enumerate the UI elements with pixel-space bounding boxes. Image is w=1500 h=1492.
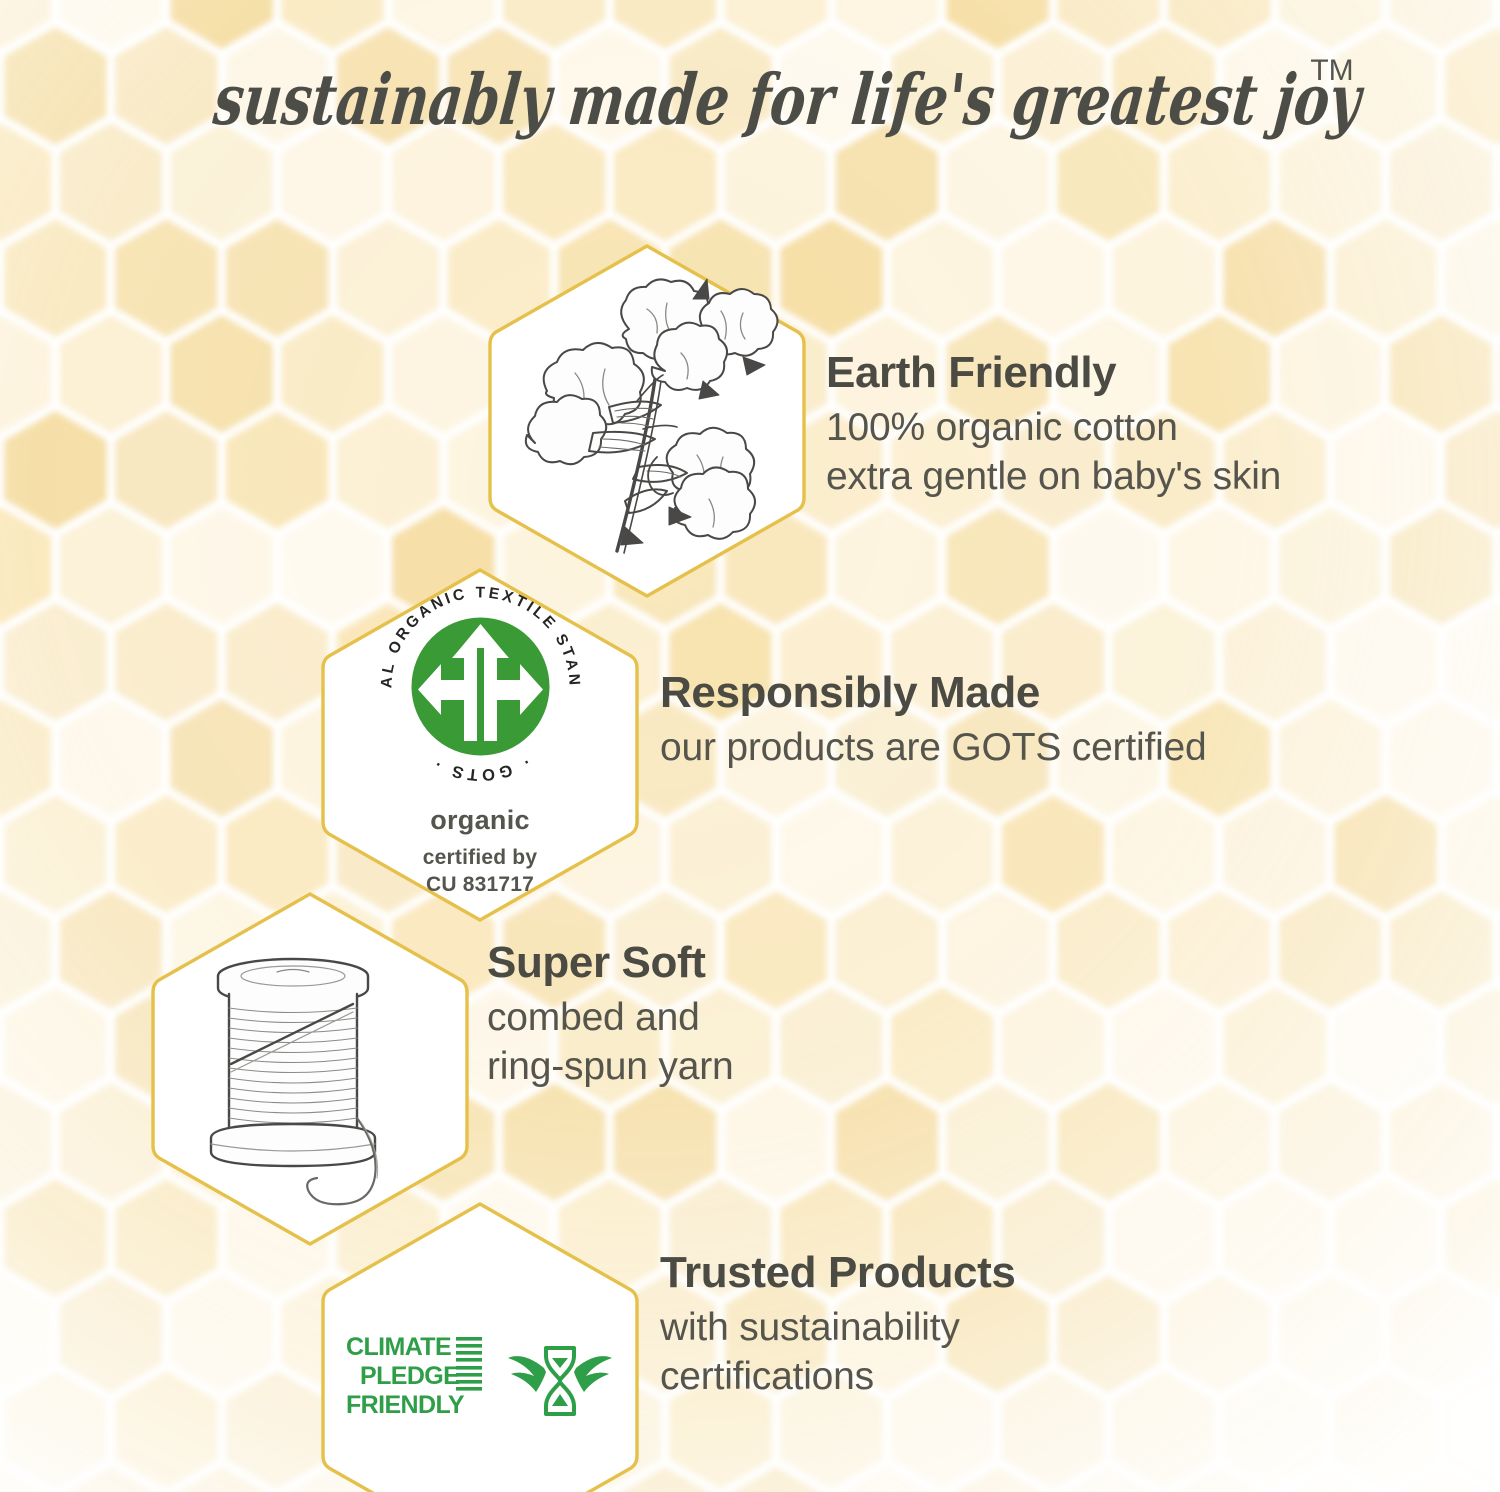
honeycomb-cell	[4, 219, 106, 337]
headline-script: sustainably made for life's greatest joy	[209, 59, 1368, 141]
winged-hourglass-icon	[506, 1338, 614, 1424]
honeycomb-cell	[836, 0, 938, 49]
honeycomb-cell	[1168, 1275, 1270, 1393]
honeycomb-cell	[0, 1275, 51, 1393]
honeycomb-cell	[1279, 0, 1381, 49]
honeycomb-cell	[503, 1083, 605, 1201]
honeycomb-cell	[1445, 603, 1500, 721]
honeycomb-cell	[891, 219, 993, 337]
honeycomb-cell	[780, 795, 882, 913]
honeycomb-cell	[947, 1083, 1049, 1201]
honeycomb-cell	[115, 219, 217, 337]
feature-text-trusted-products: Trusted Products with sustainability cer…	[660, 1248, 1015, 1402]
honeycomb-cell	[1279, 507, 1381, 625]
honeycomb-cell	[836, 1083, 938, 1201]
honeycomb-cell	[1002, 1371, 1104, 1489]
thread-spool-sketch-icon	[181, 932, 431, 1202]
honeycomb-cell	[725, 891, 827, 1009]
honeycomb-cell	[392, 315, 494, 433]
honeycomb-cell	[947, 507, 1049, 625]
feature-subline: our products are GOTS certified	[660, 723, 1207, 772]
honeycomb-cell	[1002, 795, 1104, 913]
feature-text-responsibly-made: Responsibly Made our products are GOTS c…	[660, 668, 1207, 772]
honeycomb-cell	[614, 0, 716, 49]
honeycomb-cell	[1057, 507, 1159, 625]
honeycomb-cell	[1057, 0, 1159, 49]
honeycomb-cell	[1445, 987, 1500, 1105]
feature-title: Trusted Products	[660, 1248, 1015, 1297]
honeycomb-cell	[1002, 1179, 1104, 1297]
honeycomb-cell	[1445, 219, 1500, 337]
feature-subline: certifications	[660, 1352, 1015, 1401]
honeycomb-cell	[1002, 219, 1104, 337]
honeycomb-cell	[0, 315, 51, 433]
honeycomb-cell	[4, 795, 106, 913]
gots-certification-icon: GLOBAL ORGANIC TEXTILE STANDARD · GOTS ·…	[378, 584, 583, 898]
honeycomb-cell	[1335, 1371, 1437, 1489]
honeycomb-cell	[4, 1371, 106, 1489]
honeycomb-cell	[1335, 603, 1437, 721]
honeycomb-cell	[1445, 1179, 1500, 1297]
honeycomb-cell	[725, 1083, 827, 1201]
honeycomb-cell	[1057, 1467, 1159, 1492]
honeycomb-cell	[0, 699, 51, 817]
climate-pledge-wordmark: CLIMATE PLEDGE FRIENDLY	[346, 1333, 486, 1429]
feature-subline: extra gentle on baby's skin	[826, 452, 1281, 501]
honeycomb-cell	[1390, 891, 1492, 1009]
honeycomb-cell	[947, 891, 1049, 1009]
honeycomb-cell	[1224, 219, 1326, 337]
honeycomb-cell	[392, 0, 494, 49]
honeycomb-cell	[891, 795, 993, 913]
honeycomb-cell	[4, 411, 106, 529]
honeycomb-cell	[1057, 891, 1159, 1009]
honeycomb-cell	[947, 1467, 1049, 1492]
trademark-symbol: TM	[1310, 54, 1353, 87]
honeycomb-cell	[1168, 891, 1270, 1009]
hex-card-trusted-products: CLIMATE PLEDGE FRIENDLY	[315, 1196, 645, 1492]
honeycomb-cell	[1335, 411, 1437, 529]
gots-organic-label: organic	[430, 805, 530, 836]
honeycomb-cell	[725, 0, 827, 49]
honeycomb-cell	[171, 1467, 273, 1492]
honeycomb-cell	[1279, 1467, 1381, 1492]
honeycomb-cell	[1279, 315, 1381, 433]
feature-text-super-soft: Super Soft combed and ring-spun yarn	[487, 938, 734, 1092]
honeycomb-cell	[1113, 987, 1215, 1105]
honeycomb-cell	[0, 507, 51, 625]
honeycomb-cell	[0, 891, 51, 1009]
honeycomb-cell	[226, 603, 328, 721]
honeycomb-cell	[1390, 0, 1492, 49]
honeycomb-cell	[1445, 1371, 1500, 1489]
honeycomb-cell	[1224, 603, 1326, 721]
honeycomb-cell	[1445, 411, 1500, 529]
honeycomb-cell	[60, 1275, 162, 1393]
honeycomb-cell	[1113, 1371, 1215, 1489]
honeycomb-cell	[1279, 1275, 1381, 1393]
honeycomb-cell	[1335, 987, 1437, 1105]
honeycomb-cell	[1390, 507, 1492, 625]
honeycomb-cell	[1168, 1083, 1270, 1201]
honeycomb-cell	[669, 795, 771, 913]
honeycomb-cell	[1279, 699, 1381, 817]
cpf-stripe-motif	[456, 1337, 482, 1391]
honeycomb-cell	[282, 315, 384, 433]
feature-title: Super Soft	[487, 938, 734, 987]
gots-ring-text-bottom: · GOTS ·	[428, 753, 533, 784]
honeycomb-cell	[1335, 1179, 1437, 1297]
honeycomb-cell	[4, 603, 106, 721]
gots-seal-icon: GLOBAL ORGANIC TEXTILE STANDARD · GOTS ·	[378, 584, 583, 789]
hex-card-earth-friendly	[482, 238, 812, 604]
honeycomb-cell	[1057, 1083, 1159, 1201]
honeycomb-cell	[1335, 219, 1437, 337]
cpf-line-3: FRIENDLY	[346, 1391, 465, 1419]
honeycomb-cell	[1224, 795, 1326, 913]
honeycomb-cell	[1168, 1467, 1270, 1492]
feature-subline: 100% organic cotton	[826, 403, 1281, 452]
honeycomb-cell	[171, 315, 273, 433]
feature-title: Earth Friendly	[826, 348, 1281, 397]
feature-subline: combed and	[487, 993, 734, 1042]
honeycomb-cell	[337, 411, 439, 529]
honeycomb-cell	[1390, 315, 1492, 433]
honeycomb-cell	[780, 987, 882, 1105]
honeycomb-cell	[4, 987, 106, 1105]
sustainability-infographic: sustainably made for life's greatest joy…	[0, 0, 1500, 1492]
honeycomb-cell	[1445, 795, 1500, 913]
honeycomb-cell	[60, 0, 162, 49]
page-headline: sustainably made for life's greatest joy…	[0, 46, 1500, 154]
honeycomb-cell	[1113, 1179, 1215, 1297]
honeycomb-cell	[1057, 1275, 1159, 1393]
honeycomb-cell	[226, 219, 328, 337]
honeycomb-cell	[1224, 987, 1326, 1105]
honeycomb-cell	[115, 603, 217, 721]
honeycomb-cell	[60, 507, 162, 625]
honeycomb-cell	[1168, 0, 1270, 49]
honeycomb-cell	[1002, 987, 1104, 1105]
honeycomb-cell	[891, 987, 993, 1105]
honeycomb-cell	[1390, 1467, 1492, 1492]
honeycomb-cell	[836, 891, 938, 1009]
honeycomb-cell	[0, 0, 51, 49]
feature-text-earth-friendly: Earth Friendly 100% organic cotton extra…	[826, 348, 1281, 502]
honeycomb-cell	[226, 1371, 328, 1489]
honeycomb-cell	[725, 1467, 827, 1492]
honeycomb-cell	[836, 507, 938, 625]
honeycomb-cell	[1168, 507, 1270, 625]
feature-subline: with sustainability	[660, 1303, 1015, 1352]
cpf-line-1: CLIMATE	[346, 1333, 451, 1361]
honeycomb-cell	[1113, 795, 1215, 913]
honeycomb-cell	[947, 0, 1049, 49]
honeycomb-cell	[1224, 1179, 1326, 1297]
climate-pledge-friendly-icon: CLIMATE PLEDGE FRIENDLY	[346, 1333, 614, 1429]
honeycomb-cell	[836, 1467, 938, 1492]
honeycomb-cell	[1390, 1275, 1492, 1393]
honeycomb-cell	[60, 315, 162, 433]
cpf-line-2: PLEDGE	[360, 1362, 459, 1390]
honeycomb-cell	[1390, 699, 1492, 817]
gots-certified-by: certified by	[423, 845, 537, 871]
honeycomb-cell	[226, 411, 328, 529]
honeycomb-cell	[0, 1083, 51, 1201]
cotton-boll-sketch-icon	[497, 261, 797, 581]
honeycomb-cell	[1279, 1083, 1381, 1201]
feature-title: Responsibly Made	[660, 668, 1207, 717]
honeycomb-cell	[1224, 1371, 1326, 1489]
honeycomb-cell	[1279, 891, 1381, 1009]
honeycomb-cell	[171, 507, 273, 625]
honeycomb-cell	[171, 0, 273, 49]
hex-card-responsibly-made: GLOBAL ORGANIC TEXTILE STANDARD · GOTS ·…	[315, 562, 645, 928]
honeycomb-cell	[282, 0, 384, 49]
honeycomb-cell	[4, 1179, 106, 1297]
honeycomb-cell	[171, 1275, 273, 1393]
honeycomb-cell	[0, 1467, 51, 1492]
honeycomb-cell	[1390, 1083, 1492, 1201]
honeycomb-cell	[614, 1083, 716, 1201]
honeycomb-cell	[1113, 219, 1215, 337]
honeycomb-cell	[503, 0, 605, 49]
honeycomb-cell	[171, 699, 273, 817]
honeycomb-cell	[115, 1371, 217, 1489]
honeycomb-cell	[60, 699, 162, 817]
feature-subline: ring-spun yarn	[487, 1042, 734, 1091]
honeycomb-cell	[115, 411, 217, 529]
honeycomb-cell	[337, 219, 439, 337]
honeycomb-cell	[1335, 795, 1437, 913]
honeycomb-cell	[60, 1467, 162, 1492]
